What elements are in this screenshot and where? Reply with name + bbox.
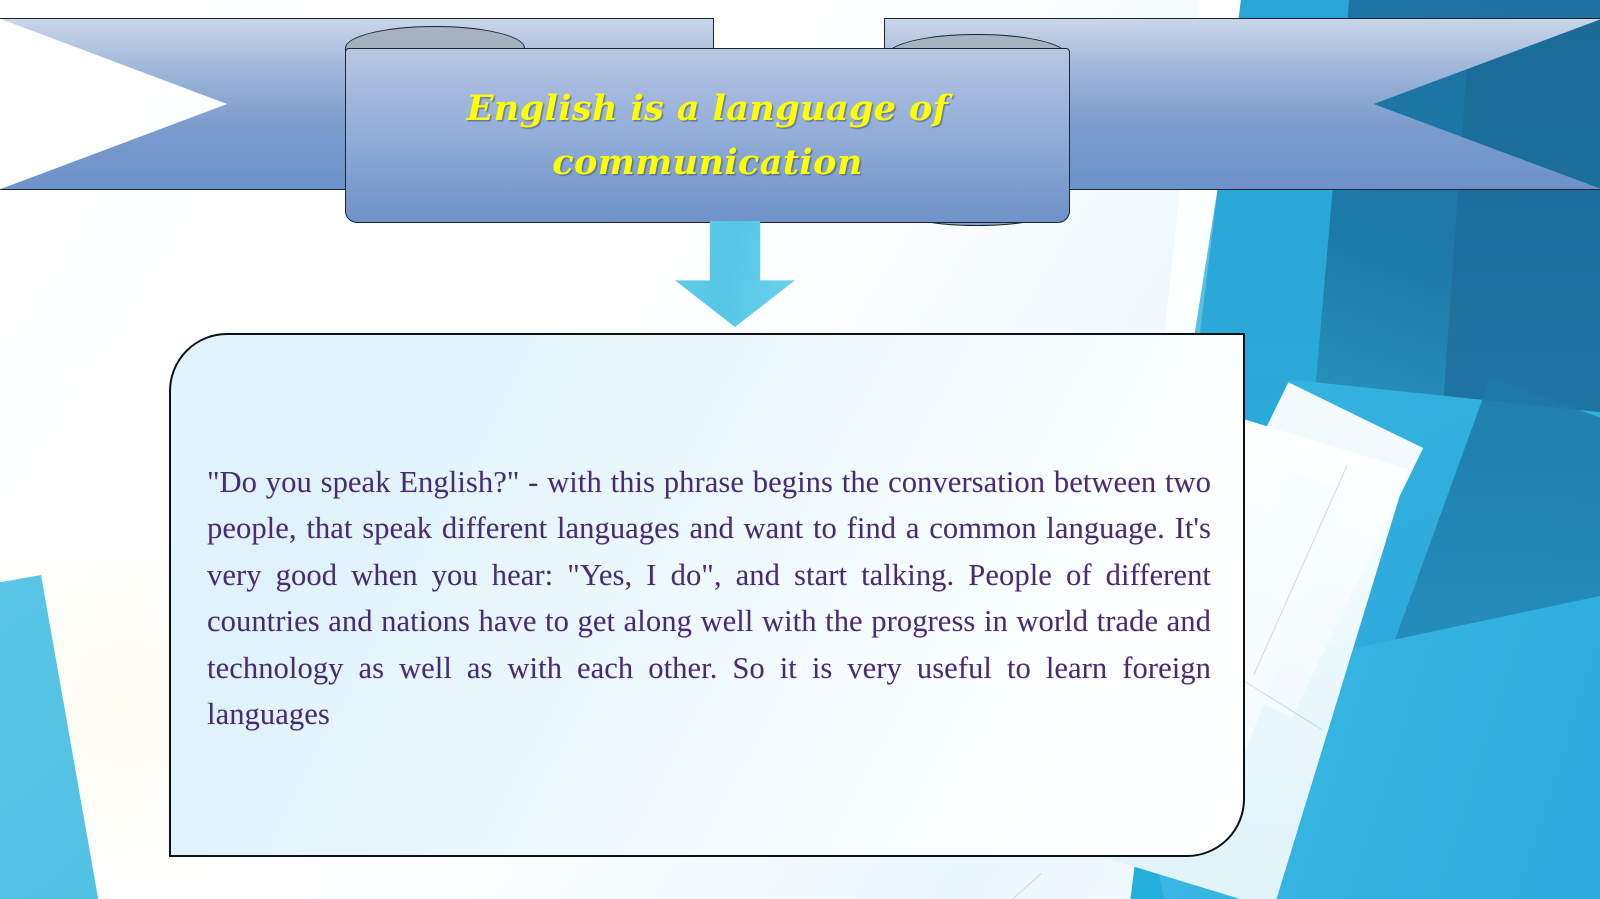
ribbon-center-panel: English is a language of communication [345,48,1070,223]
slide-canvas: English is a language of communication "… [0,0,1600,899]
content-body-text: "Do you speak English?" - with this phra… [207,459,1211,739]
banner-title: English is a language of communication [368,82,1048,188]
content-card: "Do you speak English?" - with this phra… [169,333,1245,857]
ribbon-banner: English is a language of communication [0,0,1600,240]
